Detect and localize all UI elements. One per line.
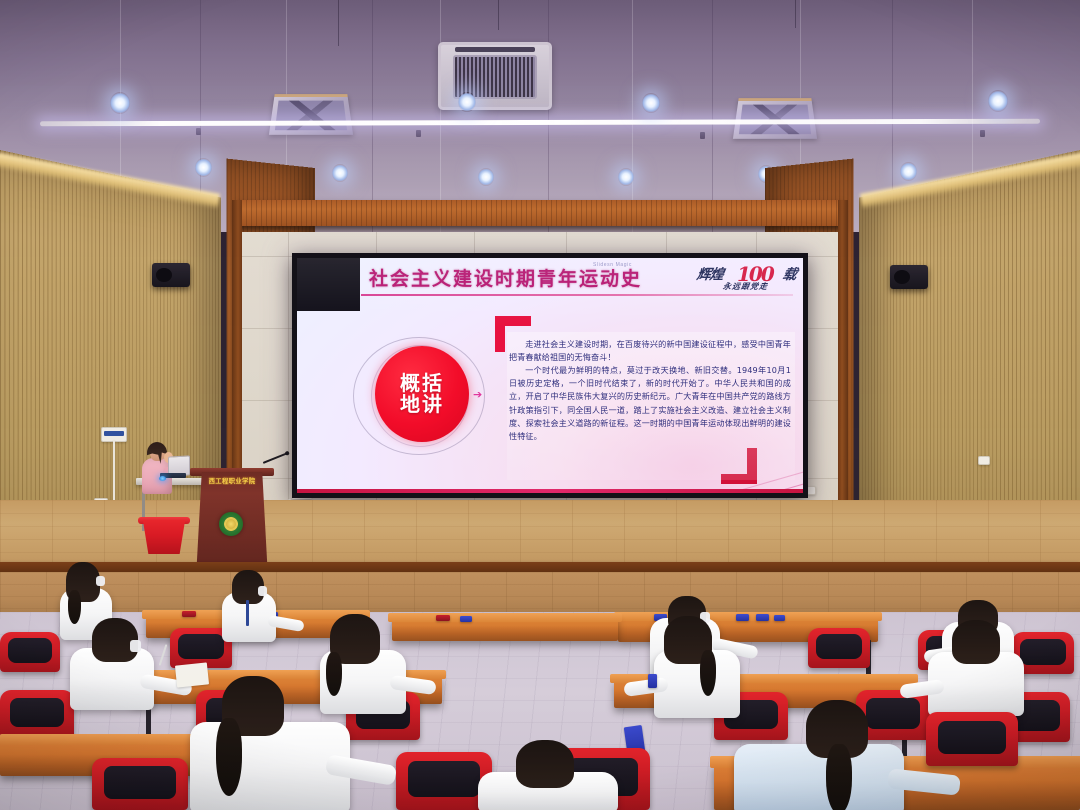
- phone-on-desk[interactable]: [756, 614, 769, 621]
- circle-label-line2: 地讲: [400, 394, 444, 415]
- auditorium-seat[interactable]: [0, 632, 60, 672]
- downlight: [332, 164, 348, 182]
- auditorium-seat[interactable]: [926, 712, 1018, 766]
- slide-paragraph-1: 走进社会主义建设时期，在百废待兴的新中国建设征程中，感受中国青年把青春献给祖国的…: [509, 338, 791, 364]
- downlight: [900, 162, 917, 181]
- downlight: [618, 168, 634, 186]
- auditorium-seat[interactable]: [0, 690, 74, 738]
- air-vent-left: [269, 94, 353, 135]
- slide-body-text: 走进社会主义建设时期，在百废待兴的新中国建设征程中，感受中国青年把青春献给祖国的…: [509, 338, 791, 443]
- wall-outlet[interactable]: [978, 456, 990, 465]
- logo-tail-char: 载: [781, 264, 799, 284]
- red-circle-callout: 概括 地讲: [375, 346, 469, 442]
- downlight: [110, 92, 130, 114]
- slide-bottom-accent-bar: [297, 489, 803, 493]
- wall-speaker-left: [152, 263, 190, 287]
- ceiling-ac-unit: [438, 42, 552, 110]
- phone-on-desk[interactable]: [460, 616, 472, 622]
- logo-calligraphy-text: 辉煌: [695, 264, 725, 284]
- school-crest-emblem: [219, 512, 243, 536]
- circle-label-line1: 概括: [400, 373, 444, 394]
- indicator-light: [159, 476, 166, 481]
- screen-letterbox-block: [297, 258, 360, 311]
- led-display-screen[interactable]: 社会主义建设时期青年运动史 Slidesn Magic 辉煌 100 载 永远跟…: [292, 253, 808, 498]
- auditorium-photo: 社会主义建设时期青年运动史 Slidesn Magic 辉煌 100 载 永远跟…: [0, 0, 1080, 810]
- book-on-desk[interactable]: [182, 611, 196, 617]
- auditorium-seat[interactable]: [808, 628, 870, 668]
- downlight: [988, 90, 1008, 112]
- wall-speaker-right: [890, 265, 928, 289]
- title-underline: [361, 294, 793, 296]
- downlight: [478, 168, 494, 186]
- podium-banner-text: 西工程职业学院: [196, 476, 268, 485]
- book-on-desk[interactable]: [436, 615, 450, 621]
- slide-watermark: Slidesn Magic: [593, 262, 632, 268]
- downlight: [458, 92, 476, 112]
- slide-paragraph-2: 一个时代最为鲜明的特点，莫过于改天换地、新旧交替。1949年10月1日被历史定格…: [509, 364, 791, 443]
- phone-on-desk[interactable]: [736, 614, 749, 621]
- downlight: [642, 93, 660, 113]
- slide-surface: 社会主义建设时期青年运动史 Slidesn Magic 辉煌 100 载 永远跟…: [297, 258, 803, 493]
- arrow-icon: ➔: [473, 388, 482, 401]
- anniversary-logo: 辉煌 100 载 永远跟党走: [697, 262, 797, 294]
- desk-surface: [388, 613, 622, 622]
- red-plastic-stool[interactable]: [141, 520, 187, 554]
- slide-title: 社会主义建设时期青年运动史: [369, 264, 642, 291]
- downlight: [195, 158, 212, 177]
- auditorium-seat[interactable]: [92, 758, 188, 810]
- logo-subtitle: 永远跟党走: [722, 281, 769, 292]
- wood-trim-band: [236, 200, 844, 226]
- ceiling-led-strip: [40, 119, 1040, 127]
- phone-on-desk[interactable]: [774, 615, 785, 621]
